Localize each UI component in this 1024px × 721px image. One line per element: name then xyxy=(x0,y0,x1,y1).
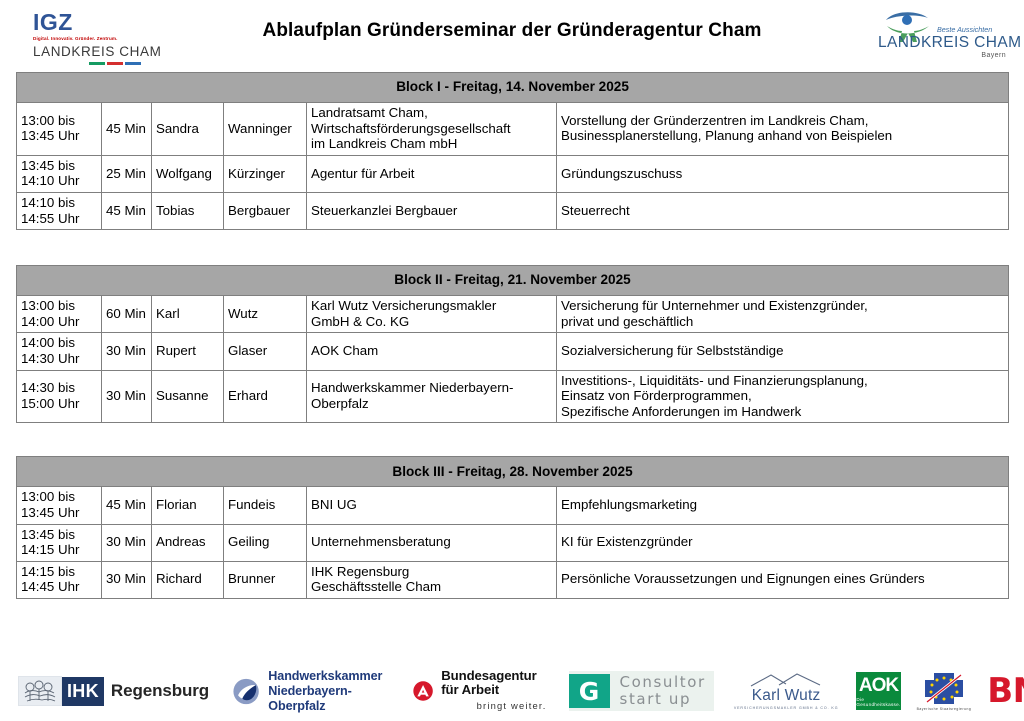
block-2-wrapper: Block II - Freitag, 21. November 2025 13… xyxy=(0,265,1024,423)
cell-company: Handwerkskammer Niederbayern- Oberpfalz xyxy=(307,370,557,423)
cell-last-name: Glaser xyxy=(224,333,307,370)
bayern-eu-emblem-icon xyxy=(924,672,964,705)
cell-first-name: Wolfgang xyxy=(152,155,224,192)
cell-company: Landratsamt Cham, Wirtschaftsförderungsg… xyxy=(307,103,557,156)
block-1-wrapper: Block I - Freitag, 14. November 2025 13:… xyxy=(0,72,1024,230)
landkreis-cham-logo: Beste Aussichten LANDKREIS CHAM Bayern xyxy=(878,8,1010,66)
cell-topic: Investitions-, Liquiditäts- und Finanzie… xyxy=(557,370,1009,423)
bayern-eu-caption: Bayerische Staatsregierung xyxy=(917,707,972,711)
table-row: 13:45 bis 14:10 Uhr 25 Min Wolfgang Kürz… xyxy=(17,155,1009,192)
aok-word-text: AOK xyxy=(859,676,898,696)
cell-last-name: Geiling xyxy=(224,524,307,561)
bni-wordmark: BNI xyxy=(987,674,1024,708)
hwk-line-1: Handwerkskammer xyxy=(268,669,387,684)
cell-topic: Steuerrecht xyxy=(557,192,1009,229)
partner-logo-strip: IHK Regensburg Handwerkskammer Niederbay… xyxy=(0,661,1024,721)
cell-first-name: Rupert xyxy=(152,333,224,370)
cell-time: 14:00 bis 14:30 Uhr xyxy=(17,333,102,370)
block-header-row: Block III - Freitag, 28. November 2025 xyxy=(17,457,1009,487)
ihk-abbreviation: IHK xyxy=(62,677,104,706)
karl-wutz-name: Karl Wutz xyxy=(752,687,821,704)
bundesagentur-logo: Bundesagentur für Arbeit bringt weiter. xyxy=(413,669,546,713)
cell-topic: Vorstellung der Gründerzentren im Landkr… xyxy=(557,103,1009,156)
aok-claim: Die Gesundheitskasse. xyxy=(856,697,900,707)
cell-company: Unternehmensberatung xyxy=(307,524,557,561)
cell-last-name: Kürzinger xyxy=(224,155,307,192)
hwk-name: Handwerkskammer Niederbayern-Oberpfalz xyxy=(268,669,387,714)
cell-topic: Empfehlungsmarketing xyxy=(557,487,1009,524)
cell-last-name: Wanninger xyxy=(224,103,307,156)
cell-time: 13:45 bis 14:15 Uhr xyxy=(17,524,102,561)
cell-time: 13:00 bis 13:45 Uhr xyxy=(17,103,102,156)
cell-first-name: Sandra xyxy=(152,103,224,156)
hwk-swoosh-icon xyxy=(233,676,259,707)
bundesagentur-text: Bundesagentur für Arbeit bringt weiter. xyxy=(441,669,546,713)
cell-topic: Sozialversicherung für Selbstständige xyxy=(557,333,1009,370)
table-row: 14:00 bis 14:30 Uhr 30 Min Rupert Glaser… xyxy=(17,333,1009,370)
cell-topic: Versicherung für Unternehmer und Existen… xyxy=(557,296,1009,333)
cell-company: BNI UG xyxy=(307,487,557,524)
cell-duration: 45 Min xyxy=(102,192,152,229)
block-heading: Block II - Freitag, 21. November 2025 xyxy=(17,266,1009,296)
page-title: Ablaufplan Gründerseminar der Gründerage… xyxy=(0,20,1024,42)
karl-wutz-logo: Karl Wutz VERSICHERUNGSMAKLER GMBH & CO.… xyxy=(734,672,839,710)
table-row: 13:00 bis 13:45 Uhr 45 Min Florian Funde… xyxy=(17,487,1009,524)
cell-time: 14:10 bis 14:55 Uhr xyxy=(17,192,102,229)
schedule-table-block-2: Block II - Freitag, 21. November 2025 13… xyxy=(16,265,1009,423)
cell-last-name: Bergbauer xyxy=(224,192,307,229)
cell-duration: 30 Min xyxy=(102,524,152,561)
ihk-regensburg-logo: IHK Regensburg xyxy=(18,676,209,706)
bni-logo: BNI . xyxy=(987,674,1024,708)
cell-company: Steuerkanzlei Bergbauer xyxy=(307,192,557,229)
cell-duration: 45 Min xyxy=(102,487,152,524)
cell-last-name: Erhard xyxy=(224,370,307,423)
cell-topic: Gründungszuschuss xyxy=(557,155,1009,192)
block-3-wrapper: Block III - Freitag, 28. November 2025 1… xyxy=(0,456,1024,599)
table-row: 13:00 bis 14:00 Uhr 60 Min Karl Wutz Kar… xyxy=(17,296,1009,333)
cell-time: 13:45 bis 14:10 Uhr xyxy=(17,155,102,192)
bundesagentur-claim: bringt weiter. xyxy=(441,699,546,713)
cell-topic: KI für Existenzgründer xyxy=(557,524,1009,561)
cell-first-name: Karl xyxy=(152,296,224,333)
cell-last-name: Brunner xyxy=(224,561,307,598)
schedule-table-block-3: Block III - Freitag, 28. November 2025 1… xyxy=(16,456,1009,599)
consultor-g-icon: G xyxy=(569,674,610,708)
igz-subline: LANDKREIS CHAM xyxy=(33,44,183,60)
cell-time: 14:30 bis 15:00 Uhr xyxy=(17,370,102,423)
cell-duration: 60 Min xyxy=(102,296,152,333)
schedule-table-block-1: Block I - Freitag, 14. November 2025 13:… xyxy=(16,72,1009,230)
cell-first-name: Tobias xyxy=(152,192,224,229)
consultor-startup-logo: G Consultor start up xyxy=(569,671,714,711)
block-heading: Block III - Freitag, 28. November 2025 xyxy=(17,457,1009,487)
cell-duration: 30 Min xyxy=(102,370,152,423)
cell-first-name: Richard xyxy=(152,561,224,598)
handwerkskammer-logo: Handwerkskammer Niederbayern-Oberpfalz xyxy=(233,669,387,714)
table-row: 13:45 bis 14:15 Uhr 30 Min Andreas Geili… xyxy=(17,524,1009,561)
table-row: 14:10 bis 14:55 Uhr 45 Min Tobias Bergba… xyxy=(17,192,1009,229)
landkreis-region: Bayern xyxy=(981,52,1006,59)
landkreis-name: LANDKREIS CHAM xyxy=(878,34,1021,52)
cell-first-name: Susanne xyxy=(152,370,224,423)
block-spacer xyxy=(0,230,1024,265)
cell-time: 14:15 bis 14:45 Uhr xyxy=(17,561,102,598)
ihk-city-label: Regensburg xyxy=(111,681,209,701)
cell-company: IHK Regensburg Geschäftsstelle Cham xyxy=(307,561,557,598)
bundesagentur-a-icon xyxy=(413,676,433,706)
aok-logo: AOK Die Gesundheitskasse. xyxy=(856,672,900,710)
table-row: 13:00 bis 13:45 Uhr 45 Min Sandra Wannin… xyxy=(17,103,1009,156)
cell-first-name: Florian xyxy=(152,487,224,524)
block-header-row: Block I - Freitag, 14. November 2025 xyxy=(17,73,1009,103)
cell-company: Agentur für Arbeit xyxy=(307,155,557,192)
cell-duration: 30 Min xyxy=(102,333,152,370)
igz-color-bars-icon xyxy=(89,62,183,65)
cell-time: 13:00 bis 14:00 Uhr xyxy=(17,296,102,333)
cell-duration: 30 Min xyxy=(102,561,152,598)
cell-company: AOK Cham xyxy=(307,333,557,370)
table-row: 14:15 bis 14:45 Uhr 30 Min Richard Brunn… xyxy=(17,561,1009,598)
cell-duration: 25 Min xyxy=(102,155,152,192)
aok-wordmark: AOK xyxy=(859,676,898,696)
consultor-line-2: start up xyxy=(620,691,706,708)
bundesagentur-name: Bundesagentur für Arbeit xyxy=(441,669,546,697)
landkreis-claim: Beste Aussichten xyxy=(937,25,992,34)
consultor-line-1: Consultor xyxy=(620,674,706,691)
hwk-line-2: Niederbayern-Oberpfalz xyxy=(268,684,387,714)
block-spacer xyxy=(0,423,1024,456)
block-heading: Block I - Freitag, 14. November 2025 xyxy=(17,73,1009,103)
bayern-eu-logo: Bayerische Staatsregierung xyxy=(917,672,972,711)
block-header-row: Block II - Freitag, 21. November 2025 xyxy=(17,266,1009,296)
cell-company: Karl Wutz Versicherungsmakler GmbH & Co.… xyxy=(307,296,557,333)
cell-topic: Persönliche Voraussetzungen und Eignunge… xyxy=(557,561,1009,598)
cell-duration: 45 Min xyxy=(102,103,152,156)
cell-first-name: Andreas xyxy=(152,524,224,561)
document-header: IGZ Digital. Innovativ. Gründer. Zentrum… xyxy=(0,0,1024,72)
consultor-wordmark: Consultor start up xyxy=(620,674,706,708)
ihk-crest-icon xyxy=(18,676,62,706)
mountain-icon xyxy=(749,672,823,687)
cell-last-name: Wutz xyxy=(224,296,307,333)
cell-last-name: Fundeis xyxy=(224,487,307,524)
table-row: 14:30 bis 15:00 Uhr 30 Min Susanne Erhar… xyxy=(17,370,1009,423)
cell-time: 13:00 bis 13:45 Uhr xyxy=(17,487,102,524)
karl-wutz-sub: VERSICHERUNGSMAKLER GMBH & CO. KG xyxy=(734,706,839,710)
